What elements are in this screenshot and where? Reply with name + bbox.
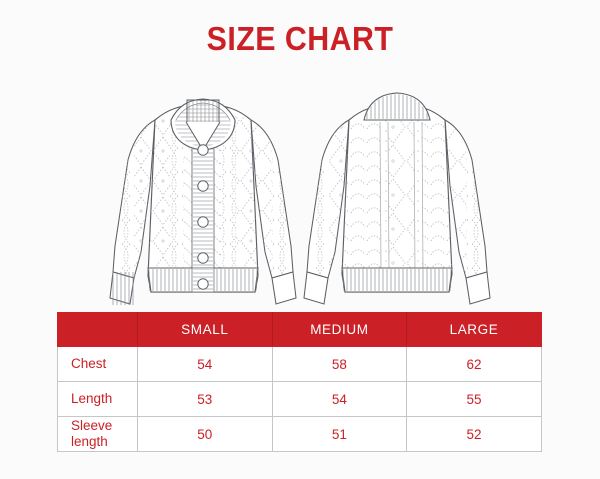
column-header-medium: MEDIUM: [272, 313, 407, 347]
cell-length-large: 55: [407, 382, 542, 417]
cell-length-small: 53: [138, 382, 273, 417]
size-table-container: SMALL MEDIUM LARGE Chest 54 58 62 Length…: [57, 312, 541, 452]
row-label-sleeve-line1: Sleeve: [71, 418, 137, 434]
cell-sleeve-small: 50: [138, 417, 273, 452]
cell-chest-small: 54: [138, 347, 273, 382]
row-label-chest: Chest: [58, 347, 138, 382]
table-row: Sleeve length 50 51 52: [58, 417, 542, 452]
cell-chest-medium: 58: [272, 347, 407, 382]
table-corner-cell: [58, 313, 138, 347]
cell-sleeve-medium: 51: [272, 417, 407, 452]
table-row: Length 53 54 55: [58, 382, 542, 417]
size-chart-page: SIZE CHART: [0, 0, 600, 479]
row-label-sleeve-length: Sleeve length: [58, 417, 138, 452]
page-title: SIZE CHART: [24, 22, 576, 55]
table-header-row: SMALL MEDIUM LARGE: [58, 313, 542, 347]
cell-chest-large: 62: [407, 347, 542, 382]
cardigan-back-illustration: [302, 76, 492, 316]
cell-sleeve-large: 52: [407, 417, 542, 452]
size-table: SMALL MEDIUM LARGE Chest 54 58 62 Length…: [57, 312, 542, 452]
row-label-sleeve-line2: length: [71, 434, 137, 450]
cell-length-medium: 54: [272, 382, 407, 417]
row-label-length: Length: [58, 382, 138, 417]
cardigan-front-illustration: [108, 76, 298, 316]
column-header-large: LARGE: [407, 313, 542, 347]
table-row: Chest 54 58 62: [58, 347, 542, 382]
column-header-small: SMALL: [138, 313, 273, 347]
garment-illustrations: [0, 76, 600, 311]
